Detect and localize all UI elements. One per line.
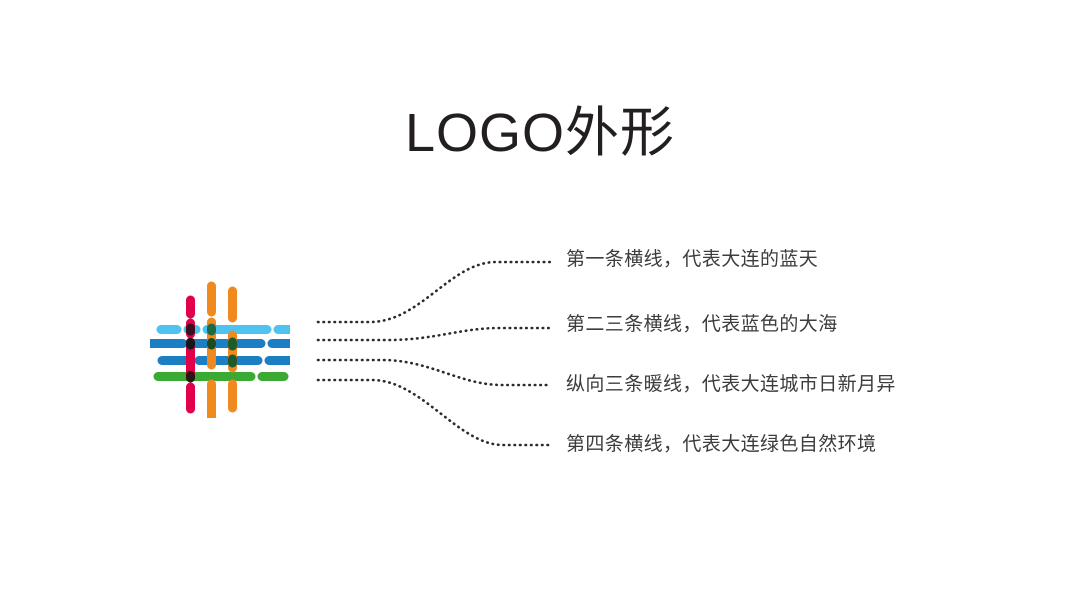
callout-blue-sky: 第一条横线，代表大连的蓝天 (566, 249, 818, 272)
callout-warm-lines: 纵向三条暖线，代表大连城市日新月异 (566, 374, 896, 397)
callout-blue-sea: 第二三条横线，代表蓝色的大海 (566, 314, 838, 337)
connector-line-4 (318, 380, 550, 445)
connector-line-2 (318, 328, 550, 340)
connector-line-3 (318, 360, 550, 385)
connector-lines (310, 235, 560, 465)
dalian-logo-mark (150, 278, 290, 418)
slide-canvas: LOGO外形 (0, 0, 1080, 601)
page-title: LOGO外形 (0, 104, 1080, 163)
connector-line-1 (318, 262, 550, 322)
callout-green-env: 第四条横线，代表大连绿色自然环境 (566, 434, 876, 457)
